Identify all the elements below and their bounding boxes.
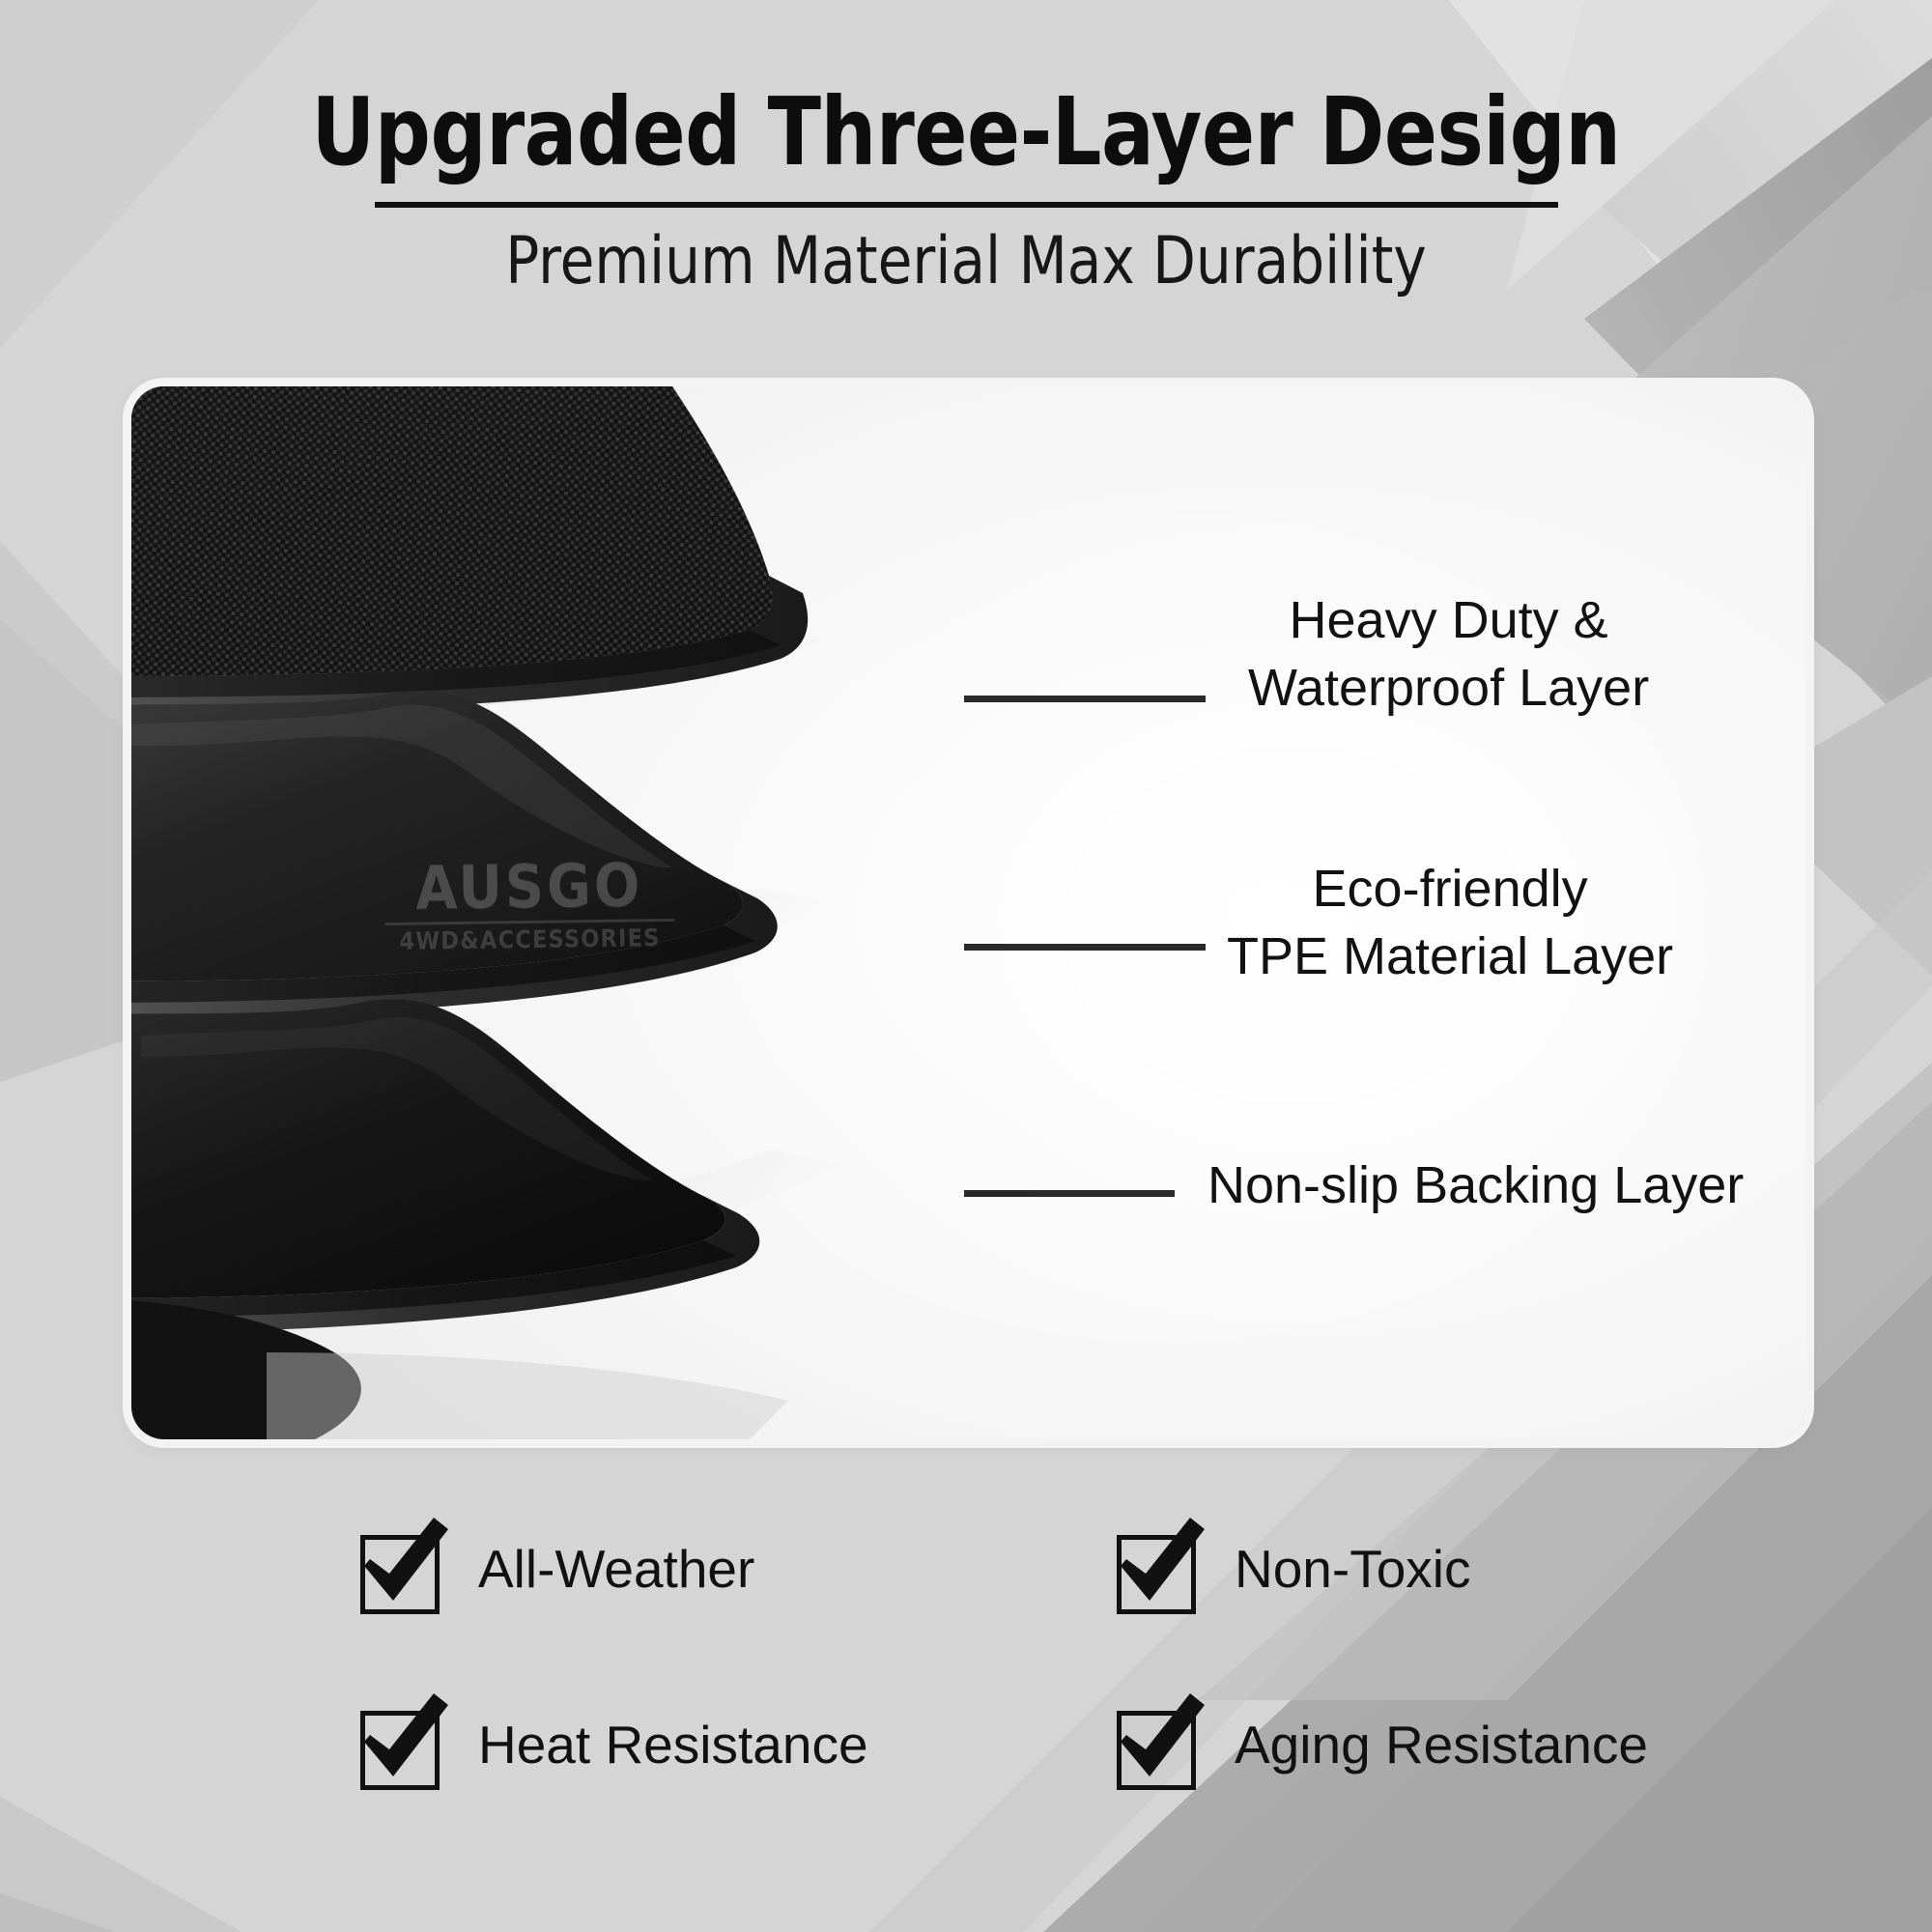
feature-label: Aging Resistance bbox=[1235, 1714, 1648, 1776]
feature-item-non-toxic[interactable]: Non-Toxic bbox=[1109, 1521, 1471, 1616]
callout-label-nonslip: Non-slip Backing Layer bbox=[1207, 1151, 1744, 1219]
callout-label-tpe: Eco-friendly TPE Material Layer bbox=[1227, 855, 1673, 990]
infographic-root: Upgraded Three-Layer Design Premium Mate… bbox=[0, 0, 1932, 1932]
title-divider bbox=[375, 202, 1558, 208]
callout-3-line-1: Non-slip Backing Layer bbox=[1207, 1151, 1744, 1219]
feature-label: Non-Toxic bbox=[1235, 1538, 1471, 1600]
callout-2-line-1: Eco-friendly bbox=[1227, 855, 1673, 923]
leader-line-layer-3 bbox=[964, 1190, 1175, 1197]
feature-checklist: All-Weather Non-Toxic Heat Resistance bbox=[0, 1521, 1932, 1889]
feature-label: All-Weather bbox=[478, 1538, 754, 1600]
feature-item-aging-resistance[interactable]: Aging Resistance bbox=[1109, 1697, 1648, 1792]
callout-label-waterproof: Heavy Duty & Waterproof Layer bbox=[1248, 586, 1649, 722]
leader-line-layer-1 bbox=[964, 696, 1206, 702]
callout-2-line-2: TPE Material Layer bbox=[1227, 923, 1673, 990]
header: Upgraded Three-Layer Design Premium Mate… bbox=[0, 0, 1932, 299]
callout-1-line-1: Heavy Duty & bbox=[1248, 586, 1649, 654]
page-subtitle: Premium Material Max Durability bbox=[48, 223, 1884, 299]
feature-label: Heat Resistance bbox=[478, 1714, 868, 1776]
callout-1-line-2: Waterproof Layer bbox=[1248, 654, 1649, 722]
feature-item-heat-resistance[interactable]: Heat Resistance bbox=[353, 1697, 868, 1792]
checkmark-icon bbox=[1109, 1697, 1204, 1792]
checkmark-icon bbox=[1109, 1521, 1204, 1616]
checkmark-icon bbox=[353, 1697, 447, 1792]
feature-item-all-weather[interactable]: All-Weather bbox=[353, 1521, 754, 1616]
page-title: Upgraded Three-Layer Design bbox=[68, 0, 1864, 181]
checkmark-icon bbox=[353, 1521, 447, 1616]
leader-line-layer-2 bbox=[964, 944, 1206, 951]
